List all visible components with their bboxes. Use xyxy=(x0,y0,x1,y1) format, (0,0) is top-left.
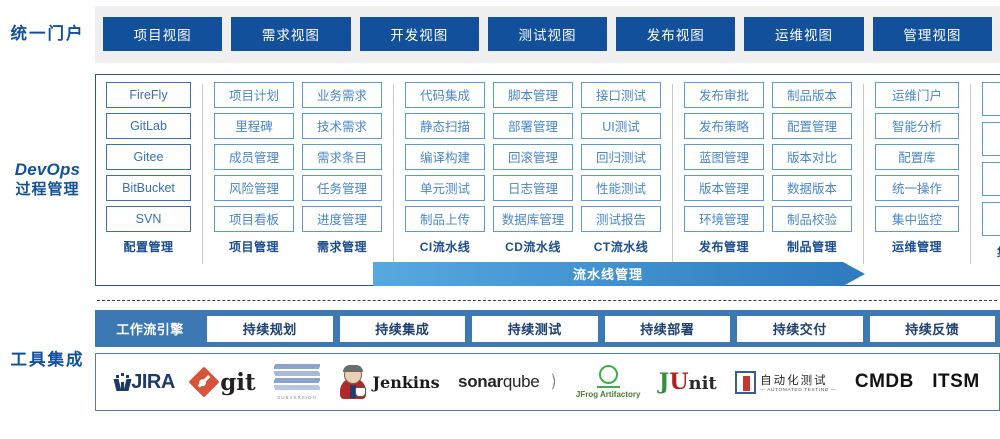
pipeline-arrow-head-icon xyxy=(843,262,865,286)
column-artifact-management: 制品版本 配置管理 版本对比 数据版本 制品校验 制品管理 xyxy=(768,82,856,280)
cell-static-scan[interactable]: 静态扫描 xyxy=(405,113,485,139)
subversion-logo[interactable]: SUBVERSION xyxy=(274,359,320,405)
cell-unit-test[interactable]: 单元测试 xyxy=(405,175,485,201)
column-divider-4 xyxy=(863,84,864,264)
column-ops-management: 运维门户 智能分析 配置库 统一操作 集中监控 运维管理 xyxy=(871,82,963,280)
jenkins-logo-text: Jenkins xyxy=(372,373,439,392)
column-project-management: 项目计划 里程碑 成员管理 风险管理 项目看板 项目管理 xyxy=(210,82,298,280)
devops-section-label: DevOps 过程管理 xyxy=(0,160,95,199)
column-title-config-management: 配置管理 xyxy=(106,238,191,255)
jfrog-artifactory-logo[interactable]: JFrog Artifactory xyxy=(576,359,641,405)
cell-compile-build[interactable]: 编译构建 xyxy=(405,144,485,170)
cell-ui-test[interactable]: UI测试 xyxy=(581,113,661,139)
column-group-release-artifact: 发布审批 发布策略 蓝图管理 版本管理 环境管理 发布管理 制品版本 配置管理 … xyxy=(680,82,856,280)
cell-gitlab[interactable]: GitLab xyxy=(106,113,191,139)
tools-section-label: 工具集成 xyxy=(0,350,95,370)
pipeline-arrow: 流水线管理 xyxy=(373,262,865,286)
tool-integration-section: 工具集成 工作流引擎 持续规划 持续集成 持续测试 持续部署 持续交付 持续反馈 xyxy=(0,303,1000,418)
cell-req-items[interactable]: 需求条目 xyxy=(302,144,382,170)
subversion-logo-text: SUBVERSION xyxy=(277,395,317,400)
cell-artifact-verify[interactable]: 制品校验 xyxy=(772,206,852,232)
column-release-management: 发布审批 发布策略 蓝图管理 版本管理 环境管理 发布管理 xyxy=(680,82,768,280)
column-integration-management: ITSM IM OA APM 集成管理 xyxy=(978,82,1000,280)
portal-button-requirement-view[interactable]: 需求视图 xyxy=(231,17,350,51)
subversion-mark-icon xyxy=(274,364,320,394)
automated-testing-logo-text-cn: 自动化测试 xyxy=(760,372,836,388)
workflow-item-continuous-testing[interactable]: 持续测试 xyxy=(472,316,598,342)
cell-im[interactable]: IM xyxy=(982,122,1000,156)
junit-logo[interactable]: JUnit xyxy=(659,359,717,405)
portal-button-management-view[interactable]: 管理视图 xyxy=(873,17,992,51)
cell-business-req[interactable]: 业务需求 xyxy=(302,82,382,108)
jira-mark-icon xyxy=(115,373,130,391)
devops-label-en: DevOps xyxy=(0,160,95,181)
junit-logo-u: U xyxy=(669,369,688,395)
cell-artifact-upload[interactable]: 制品上传 xyxy=(405,206,485,232)
column-cd-pipeline: 脚本管理 部署管理 回滚管理 日志管理 数据库管理 CD流水线 xyxy=(489,82,577,280)
cell-regression-test[interactable]: 回归测试 xyxy=(581,144,661,170)
junit-logo-nit: nit xyxy=(689,373,717,394)
cell-test-report[interactable]: 测试报告 xyxy=(581,206,661,232)
column-title-artifact-management: 制品管理 xyxy=(772,238,852,255)
portal-section-label: 统一门户 xyxy=(0,24,95,44)
cell-central-monitor[interactable]: 集中监控 xyxy=(875,206,959,232)
cell-risk-mgmt[interactable]: 风险管理 xyxy=(214,175,294,201)
column-title-ops-management: 运维管理 xyxy=(875,238,959,255)
git-diamond-icon xyxy=(189,366,220,397)
column-divider-3 xyxy=(672,84,673,264)
column-group-ops: 运维门户 智能分析 配置库 统一操作 集中监控 运维管理 xyxy=(871,82,963,280)
cell-rollback-mgmt[interactable]: 回滚管理 xyxy=(493,144,573,170)
section-divider-dashed xyxy=(97,300,997,301)
workflow-item-continuous-deployment[interactable]: 持续部署 xyxy=(605,316,731,342)
column-divider-2 xyxy=(393,84,394,264)
unified-portal-section: 统一门户 项目视图 需求视图 开发视图 测试视图 发布视图 运维视图 管理视图 xyxy=(0,0,1000,68)
automated-testing-mark-icon xyxy=(735,371,756,394)
cell-progress-mgmt[interactable]: 进度管理 xyxy=(302,206,382,232)
column-title-project-management: 项目管理 xyxy=(214,238,294,255)
cell-itsm[interactable]: ITSM xyxy=(982,82,1000,116)
cell-config-repository[interactable]: 配置库 xyxy=(875,144,959,170)
cell-bitbucket[interactable]: BitBucket xyxy=(106,175,191,201)
sonarqube-logo[interactable]: sonarqube xyxy=(458,359,557,405)
sonarqube-logo-text-light: qube xyxy=(503,372,540,391)
jenkins-logo[interactable]: Jenkins xyxy=(338,359,439,405)
portal-button-test-view[interactable]: 测试视图 xyxy=(488,17,607,51)
cell-oa[interactable]: OA xyxy=(982,162,1000,196)
junit-logo-j: J xyxy=(659,369,669,395)
jira-logo-text: JIRA xyxy=(131,371,175,394)
jira-logo[interactable]: JIRA xyxy=(115,359,175,405)
portal-button-strip: 项目视图 需求视图 开发视图 测试视图 发布视图 运维视图 管理视图 xyxy=(95,6,1000,63)
cell-code-integration[interactable]: 代码集成 xyxy=(405,82,485,108)
column-ci-pipeline: 代码集成 静态扫描 编译构建 单元测试 制品上传 CI流水线 xyxy=(401,82,489,280)
cell-ops-portal[interactable]: 运维门户 xyxy=(875,82,959,108)
itsm-logo[interactable]: ITSM xyxy=(932,359,979,405)
cmdb-logo[interactable]: CMDB xyxy=(855,359,914,405)
jfrog-underline-icon xyxy=(597,386,620,388)
cell-artifact-version[interactable]: 制品版本 xyxy=(772,82,852,108)
column-group-pipelines: 代码集成 静态扫描 编译构建 单元测试 制品上传 CI流水线 脚本管理 部署管理… xyxy=(401,82,665,280)
cell-api-test[interactable]: 接口测试 xyxy=(581,82,661,108)
column-title-ci-pipeline: CI流水线 xyxy=(405,238,485,255)
portal-button-release-view[interactable]: 发布视图 xyxy=(616,17,735,51)
cell-data-version[interactable]: 数据版本 xyxy=(772,175,852,201)
cell-smart-analysis[interactable]: 智能分析 xyxy=(875,113,959,139)
workflow-item-continuous-planning[interactable]: 持续规划 xyxy=(207,316,333,342)
cell-log-mgmt[interactable]: 日志管理 xyxy=(493,175,573,201)
automated-testing-logo[interactable]: 自动化测试 — AUTOMATED TESTING — xyxy=(735,359,836,405)
column-divider-5 xyxy=(970,84,971,264)
cmdb-logo-text: CMDB xyxy=(855,371,914,393)
cell-deploy-mgmt[interactable]: 部署管理 xyxy=(493,113,573,139)
cell-database-mgmt[interactable]: 数据库管理 xyxy=(493,206,573,232)
cell-version-mgmt[interactable]: 版本管理 xyxy=(684,175,764,201)
sonarqube-wave-icon xyxy=(541,371,557,393)
cell-release-strategy[interactable]: 发布策略 xyxy=(684,113,764,139)
jfrog-logo-text: JFrog Artifactory xyxy=(576,390,641,399)
column-title-integration-management: 集成管理 xyxy=(982,243,1000,260)
column-requirement-management: 业务需求 技术需求 需求条目 任务管理 进度管理 需求管理 xyxy=(298,82,386,280)
cell-release-approval[interactable]: 发布审批 xyxy=(684,82,764,108)
column-group-config: FireFly GitLab Gitee BitBucket SVN 配置管理 xyxy=(102,82,195,280)
cell-unified-operation[interactable]: 统一操作 xyxy=(875,175,959,201)
column-group-project-requirement: 项目计划 里程碑 成员管理 风险管理 项目看板 项目管理 业务需求 技术需求 需… xyxy=(210,82,386,280)
column-config-management: FireFly GitLab Gitee BitBucket SVN 配置管理 xyxy=(102,82,195,280)
column-title-cd-pipeline: CD流水线 xyxy=(493,238,573,255)
portal-button-project-view[interactable]: 项目视图 xyxy=(103,17,222,51)
workflow-engine-bar: 工作流引擎 持续规划 持续集成 持续测试 持续部署 持续交付 持续反馈 xyxy=(95,310,1000,347)
cell-apm[interactable]: APM xyxy=(982,202,1000,236)
portal-button-ops-view[interactable]: 运维视图 xyxy=(744,17,863,51)
git-logo-text: git xyxy=(220,369,255,396)
sonarqube-logo-text-bold: sonar xyxy=(458,372,503,391)
workflow-engine-label: 工作流引擎 xyxy=(100,319,200,338)
workflow-item-continuous-feedback[interactable]: 持续反馈 xyxy=(870,316,996,342)
tool-logo-row: JIRA git SUBVERSION xyxy=(95,353,1000,411)
pipeline-arrow-label: 流水线管理 xyxy=(373,262,843,286)
column-title-requirement-management: 需求管理 xyxy=(302,238,382,255)
column-divider-1 xyxy=(202,84,203,264)
workflow-item-continuous-delivery[interactable]: 持续交付 xyxy=(737,316,863,342)
devops-label-cn: 过程管理 xyxy=(0,181,95,199)
cell-blueprint-mgmt[interactable]: 蓝图管理 xyxy=(684,144,764,170)
column-ct-pipeline: 接口测试 UI测试 回归测试 性能测试 测试报告 CT流水线 xyxy=(577,82,665,280)
column-title-release-management: 发布管理 xyxy=(684,238,764,255)
column-group-integration: ITSM IM OA APM 集成管理 xyxy=(978,82,1000,280)
git-logo[interactable]: git xyxy=(193,359,255,405)
cell-project-board[interactable]: 项目看板 xyxy=(214,206,294,232)
automated-testing-logo-text-en: — AUTOMATED TESTING — xyxy=(760,388,836,393)
column-title-ct-pipeline: CT流水线 xyxy=(581,238,661,255)
cell-technical-req[interactable]: 技术需求 xyxy=(302,113,382,139)
cell-project-plan[interactable]: 项目计划 xyxy=(214,82,294,108)
cell-member-mgmt[interactable]: 成员管理 xyxy=(214,144,294,170)
cell-script-mgmt[interactable]: 脚本管理 xyxy=(493,82,573,108)
cell-task-mgmt[interactable]: 任务管理 xyxy=(302,175,382,201)
cell-performance-test[interactable]: 性能测试 xyxy=(581,175,661,201)
portal-button-development-view[interactable]: 开发视图 xyxy=(360,17,479,51)
devops-panel: FireFly GitLab Gitee BitBucket SVN 配置管理 … xyxy=(95,74,1000,286)
jenkins-butler-icon xyxy=(338,365,368,399)
tools-content: 工作流引擎 持续规划 持续集成 持续测试 持续部署 持续交付 持续反馈 xyxy=(95,310,1000,411)
cell-environment-mgmt[interactable]: 环境管理 xyxy=(684,206,764,232)
cell-config-mgmt[interactable]: 配置管理 xyxy=(772,113,852,139)
cell-version-compare[interactable]: 版本对比 xyxy=(772,144,852,170)
jfrog-circle-icon xyxy=(599,365,618,384)
itsm-logo-text: ITSM xyxy=(932,371,979,393)
devops-process-section: DevOps 过程管理 FireFly GitLab Gitee BitBuck… xyxy=(0,68,1000,291)
workflow-item-continuous-integration[interactable]: 持续集成 xyxy=(340,316,466,342)
cell-gitee[interactable]: Gitee xyxy=(106,144,191,170)
cell-firefly[interactable]: FireFly xyxy=(106,82,191,108)
cell-svn[interactable]: SVN xyxy=(106,206,191,232)
cell-milestone[interactable]: 里程碑 xyxy=(214,113,294,139)
